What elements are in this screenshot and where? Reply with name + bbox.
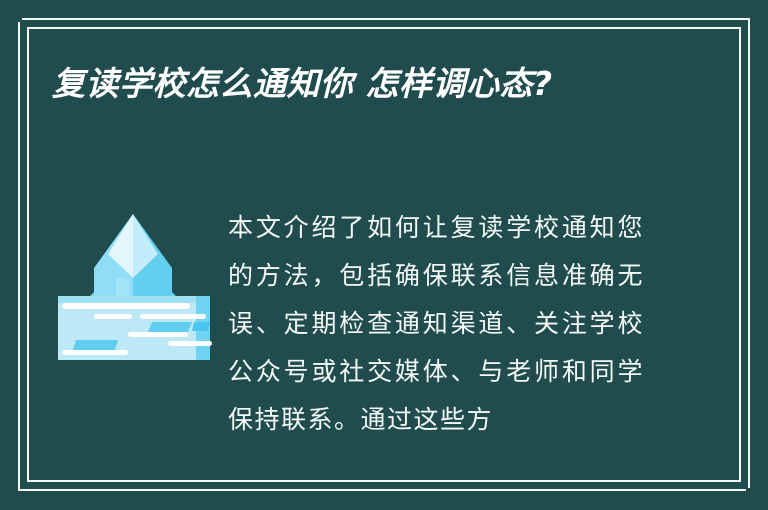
content-area: 本文介绍了如何让复读学校通知您的方法，包括确保联系信息准确无误、定期检查通知渠道… [52,196,716,470]
article-summary-text: 本文介绍了如何让复读学校通知您的方法，包括确保联系信息准确无误、定期检查通知渠道… [228,204,644,444]
poster-canvas: 复读学校怎么通知你 怎样调心态? [0,0,768,510]
page-title: 复读学校怎么通知你 怎样调心态? [52,58,712,110]
iceberg-illustration [56,200,212,360]
frame-corner-mask-topleft [0,0,22,22]
frame-corner-mask-bottomright [746,488,768,510]
